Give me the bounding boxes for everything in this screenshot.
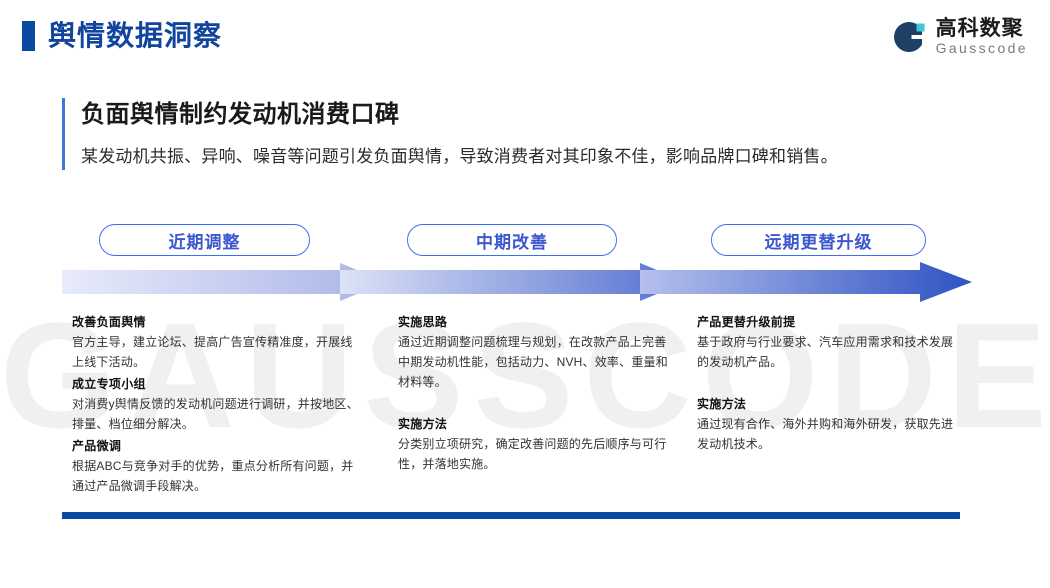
detail-block-body: 官方主导，建立论坛、提高广告宣传精准度，开展线上线下活动。 [72, 332, 362, 372]
detail-block-body: 对消费y舆情反馈的发动机问题进行调研，并按地区、排量、档位细分解决。 [72, 394, 362, 434]
detail-block: 实施思路 通过近期调整问题梳理与规划，在改款产品上完善中期发动机性能，包括动力、… [398, 312, 670, 392]
detail-column-mid-term: 实施思路 通过近期调整问题梳理与规划，在改款产品上完善中期发动机性能，包括动力、… [398, 312, 670, 476]
logo-text-group: 高科数聚 Gausscode [936, 17, 1028, 57]
summary-heading-block: 负面舆情制约发动机消费口碑 某发动机共振、异响、噪音等问题引发负面舆情，导致消费… [62, 98, 992, 170]
timeline-arrow [0, 262, 1050, 310]
detail-block: 改善负面舆情 官方主导，建立论坛、提高广告宣传精准度，开展线上线下活动。 [72, 312, 362, 372]
detail-block-heading: 改善负面舆情 [72, 312, 362, 332]
phase-detail-columns: 改善负面舆情 官方主导，建立论坛、提高广告宣传精准度，开展线上线下活动。 成立专… [0, 312, 1050, 502]
detail-block-heading: 产品微调 [72, 436, 362, 456]
detail-block-heading: 产品更替升级前提 [697, 312, 965, 332]
detail-block-heading: 成立专项小组 [72, 374, 362, 394]
phase-pill-near-term[interactable]: 近期调整 [99, 224, 310, 256]
detail-block-body: 基于政府与行业要求、汽车应用需求和技术发展的发动机产品。 [697, 332, 965, 372]
logo-name-cn: 高科数聚 [936, 17, 1028, 40]
logo-name-en: Gausscode [936, 40, 1028, 57]
page-title: 舆情数据洞察 [48, 14, 222, 58]
title-marker-icon [22, 21, 35, 51]
detail-block: 成立专项小组 对消费y舆情反馈的发动机问题进行调研，并按地区、排量、档位细分解决… [72, 374, 362, 434]
phase-pill-long-term[interactable]: 远期更替升级 [711, 224, 926, 256]
detail-block-body: 通过近期调整问题梳理与规划，在改款产品上完善中期发动机性能，包括动力、NVH、效… [398, 332, 670, 392]
detail-block: 实施方法 通过现有合作、海外并购和海外研发，获取先进发动机技术。 [697, 394, 965, 454]
detail-column-near-term: 改善负面舆情 官方主导，建立论坛、提高广告宣传精准度，开展线上线下活动。 成立专… [72, 312, 362, 498]
gausscode-logo-icon [889, 18, 927, 56]
detail-block: 产品微调 根据ABC与竞争对手的优势，重点分析所有问题，并通过产品微调手段解决。 [72, 436, 362, 496]
brand-logo: 高科数聚 Gausscode [889, 14, 1028, 60]
detail-block-heading: 实施方法 [398, 414, 670, 434]
detail-block-body: 根据ABC与竞争对手的优势，重点分析所有问题，并通过产品微调手段解决。 [72, 456, 362, 496]
summary-heading: 负面舆情制约发动机消费口碑 [81, 98, 992, 132]
page-header: 舆情数据洞察 高科数聚 Gausscode [0, 0, 1050, 72]
detail-block-heading: 实施思路 [398, 312, 670, 332]
detail-block: 产品更替升级前提 基于政府与行业要求、汽车应用需求和技术发展的发动机产品。 [697, 312, 965, 372]
detail-block-body: 分类别立项研究，确定改善问题的先后顺序与可行性，并落地实施。 [398, 434, 670, 474]
phase-pill-mid-term[interactable]: 中期改善 [407, 224, 617, 256]
detail-block: 实施方法 分类别立项研究，确定改善问题的先后顺序与可行性，并落地实施。 [398, 414, 670, 474]
detail-column-long-term: 产品更替升级前提 基于政府与行业要求、汽车应用需求和技术发展的发动机产品。 实施… [697, 312, 965, 456]
detail-block-body: 通过现有合作、海外并购和海外研发，获取先进发动机技术。 [697, 414, 965, 454]
summary-subheading: 某发动机共振、异响、噪音等问题引发负面舆情，导致消费者对其印象不佳，影响品牌口碑… [81, 144, 992, 170]
footer-rule [62, 512, 960, 519]
phase-label-row: 近期调整 中期改善 远期更替升级 [0, 224, 1050, 258]
detail-block-heading: 实施方法 [697, 394, 965, 414]
